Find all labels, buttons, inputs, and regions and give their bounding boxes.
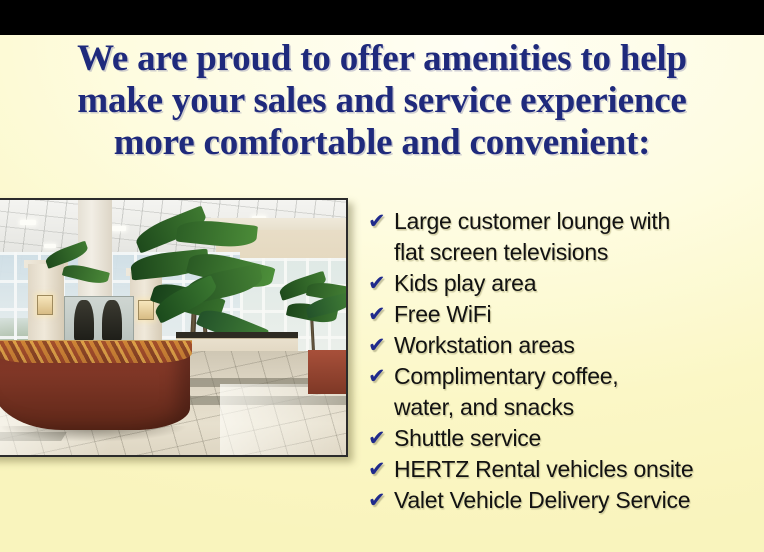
list-item-label: Complimentary coffee, water, and snacks bbox=[394, 361, 764, 423]
list-item-label: Valet Vehicle Delivery Service bbox=[394, 485, 764, 516]
wall-sconce bbox=[37, 295, 53, 315]
list-item-label: Workstation areas bbox=[394, 330, 764, 361]
list-item: ✔ Kids play area bbox=[368, 268, 764, 299]
reception-desk-counter bbox=[0, 340, 192, 363]
list-item-label: Kids play area bbox=[394, 268, 764, 299]
sculpture bbox=[74, 300, 94, 342]
title-line-3: more comfortable and convenient: bbox=[0, 122, 764, 164]
ceiling-light bbox=[20, 220, 36, 225]
check-icon: ✔ bbox=[368, 423, 394, 454]
list-item: ✔ Shuttle service bbox=[368, 423, 764, 454]
far-counter bbox=[308, 350, 346, 394]
list-item: ✔ Workstation areas bbox=[368, 330, 764, 361]
floor-sunlight bbox=[220, 384, 346, 455]
lobby-photo bbox=[0, 198, 348, 457]
check-icon: ✔ bbox=[368, 485, 394, 516]
list-item: ✔ Complimentary coffee, water, and snack… bbox=[368, 361, 764, 423]
reception-desk-base bbox=[0, 352, 190, 430]
list-item: ✔ Valet Vehicle Delivery Service bbox=[368, 485, 764, 516]
list-item-label: HERTZ Rental vehicles onsite bbox=[394, 454, 764, 485]
list-item: ✔ Free WiFi bbox=[368, 299, 764, 330]
lobby-photo-scene bbox=[0, 200, 346, 455]
slide-canvas: We are proud to offer amenities to help … bbox=[0, 0, 764, 552]
title-line-1: We are proud to offer amenities to help bbox=[0, 38, 764, 80]
check-icon: ✔ bbox=[368, 330, 394, 361]
check-icon: ✔ bbox=[368, 206, 394, 237]
wall-sconce bbox=[138, 300, 154, 320]
list-item-label: Shuttle service bbox=[394, 423, 764, 454]
title-line-2: make your sales and service experience bbox=[0, 80, 764, 122]
check-icon: ✔ bbox=[368, 454, 394, 485]
list-item: ✔ HERTZ Rental vehicles onsite bbox=[368, 454, 764, 485]
ceiling-light bbox=[44, 244, 56, 248]
list-item-label: Free WiFi bbox=[394, 299, 764, 330]
check-icon: ✔ bbox=[368, 299, 394, 330]
list-item-label: Large customer lounge with flat screen t… bbox=[394, 206, 764, 268]
amenities-list: ✔ Large customer lounge with flat screen… bbox=[368, 206, 764, 516]
list-item: ✔ Large customer lounge with flat screen… bbox=[368, 206, 764, 268]
page-title: We are proud to offer amenities to help … bbox=[0, 38, 764, 164]
ceiling-light bbox=[112, 226, 126, 231]
check-icon: ✔ bbox=[368, 268, 394, 299]
check-icon: ✔ bbox=[368, 361, 394, 392]
top-black-bar bbox=[0, 0, 764, 35]
sculpture bbox=[102, 300, 122, 342]
